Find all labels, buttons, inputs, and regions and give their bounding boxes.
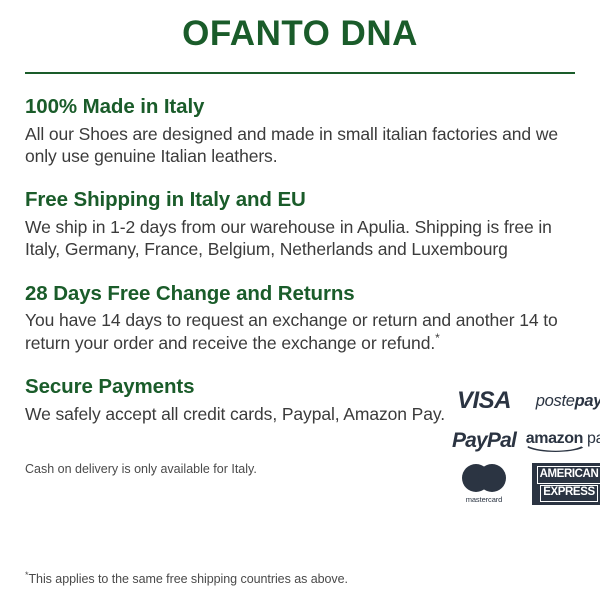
mastercard-circle-right — [478, 464, 506, 492]
amazon-pay-logo: amazon pay — [523, 421, 600, 461]
mastercard-logo: mastercard — [445, 461, 523, 507]
section-heading: 100% Made in Italy — [25, 95, 575, 120]
section-made-in-italy: 100% Made in Italy All our Shoes are des… — [25, 95, 575, 167]
section-body: We safely accept all credit cards, Paypa… — [25, 403, 445, 425]
section-free-shipping: Free Shipping in Italy and EU We ship in… — [25, 188, 575, 260]
payment-logos-grid: VISA postepay PayPal amazon — [445, 381, 600, 507]
payments-text-column: Secure Payments We safely accept all cre… — [25, 375, 445, 477]
footnote-marker: * — [435, 331, 440, 345]
american-express-logo-mark: AMERICAN EXPRESS — [532, 463, 600, 505]
american-express-logo: AMERICAN EXPRESS — [523, 461, 600, 507]
footnote: *This applies to the same free shipping … — [25, 571, 348, 587]
visa-logo: VISA — [445, 381, 523, 421]
amazon-pay-logo-text: amazon pay — [526, 431, 600, 452]
postepay-logo: postepay — [523, 381, 600, 421]
mastercard-circles-icon — [462, 464, 506, 492]
payments-row: Secure Payments We safely accept all cre… — [25, 375, 575, 507]
mastercard-logo-mark: mastercard — [462, 464, 506, 504]
amex-line-top: AMERICAN — [537, 466, 600, 484]
page-title: OFANTO DNA — [25, 0, 575, 51]
amazon-pay-word: pay — [583, 431, 600, 452]
paypal-logo-text: PayPal — [452, 429, 516, 453]
section-body: You have 14 days to request an exchange … — [25, 309, 575, 354]
section-body-text: You have 14 days to request an exchange … — [25, 310, 558, 352]
section-secure-payments: Secure Payments We safely accept all cre… — [25, 375, 575, 507]
amazon-word: amazon — [526, 431, 583, 452]
amex-line-bottom: EXPRESS — [540, 485, 598, 503]
section-body: All our Shoes are designed and made in s… — [25, 123, 575, 168]
section-change-and-returns: 28 Days Free Change and Returns You have… — [25, 282, 575, 354]
footnote-text: This applies to the same free shipping c… — [28, 572, 348, 586]
ofanto-dna-info-panel: OFANTO DNA 100% Made in Italy All our Sh… — [0, 0, 600, 600]
postepay-light-part: poste — [536, 392, 575, 410]
section-heading: 28 Days Free Change and Returns — [25, 282, 575, 307]
mastercard-logo-text: mastercard — [466, 495, 503, 504]
visa-logo-text: VISA — [457, 387, 511, 415]
section-heading: Secure Payments — [25, 375, 445, 400]
section-body: We ship in 1-2 days from our warehouse i… — [25, 216, 575, 261]
title-divider — [25, 72, 575, 74]
amazon-smile-icon — [527, 445, 584, 452]
cash-on-delivery-note: Cash on delivery is only available for I… — [25, 425, 445, 477]
postepay-bold-part: pay — [575, 392, 600, 410]
paypal-logo: PayPal — [445, 421, 523, 461]
section-heading: Free Shipping in Italy and EU — [25, 188, 575, 213]
postepay-logo-text: postepay — [536, 392, 600, 411]
